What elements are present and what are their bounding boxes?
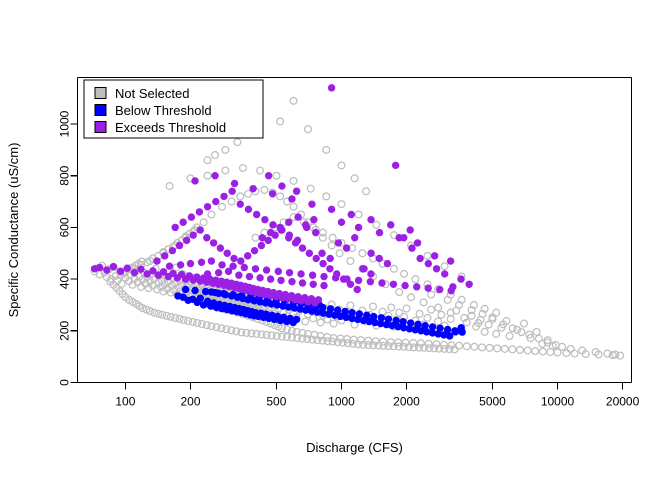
data-point xyxy=(246,273,253,280)
data-point xyxy=(385,315,392,322)
data-point xyxy=(265,172,272,179)
scatter-plot: 0200400600800100010020050010002000500010… xyxy=(0,0,672,480)
data-point xyxy=(263,266,270,273)
data-point xyxy=(215,269,222,276)
y-tick-label: 0 xyxy=(58,379,72,386)
data-point xyxy=(425,284,432,291)
data-point xyxy=(124,265,131,272)
data-point xyxy=(425,260,432,267)
data-point xyxy=(408,244,415,251)
data-point xyxy=(299,244,306,251)
data-point xyxy=(444,326,451,333)
x-tick-label: 10000 xyxy=(541,395,575,409)
data-point xyxy=(414,239,421,246)
data-point xyxy=(293,316,300,323)
chart-canvas: 0200400600800100010020050010002000500010… xyxy=(0,0,672,480)
data-point xyxy=(225,268,232,275)
data-point xyxy=(224,250,231,257)
data-point xyxy=(288,195,295,202)
data-point xyxy=(131,269,138,276)
data-point xyxy=(392,162,399,169)
data-point xyxy=(261,216,268,223)
data-point xyxy=(197,226,204,233)
data-point xyxy=(335,239,342,246)
data-point xyxy=(359,265,366,272)
data-point xyxy=(431,252,438,259)
legend-swatch-not-selected[interactable] xyxy=(95,88,106,99)
y-tick-label: 800 xyxy=(58,165,72,185)
data-point xyxy=(320,282,327,289)
data-point xyxy=(447,257,454,264)
data-point xyxy=(241,264,248,271)
data-point xyxy=(401,282,408,289)
data-point xyxy=(348,211,355,218)
data-point xyxy=(198,259,205,266)
data-point xyxy=(328,206,335,213)
y-tick-label: 400 xyxy=(58,269,72,289)
data-point xyxy=(252,265,259,272)
data-point xyxy=(458,328,465,335)
data-point xyxy=(117,268,124,275)
data-point xyxy=(356,310,363,317)
data-point xyxy=(306,250,313,257)
data-point xyxy=(390,281,397,288)
legend-swatch-below-threshold[interactable] xyxy=(95,105,106,116)
x-axis-title: Discharge (CFS) xyxy=(306,440,403,455)
data-point xyxy=(204,270,211,277)
data-point xyxy=(244,252,251,259)
data-point xyxy=(217,244,224,251)
data-point xyxy=(392,317,399,324)
data-point xyxy=(351,234,358,241)
data-point xyxy=(191,287,198,294)
data-point xyxy=(237,257,244,264)
data-point xyxy=(294,237,301,244)
data-point xyxy=(367,216,374,223)
data-point xyxy=(177,261,184,268)
data-point xyxy=(249,185,256,192)
data-point xyxy=(297,270,304,277)
data-point xyxy=(367,278,374,285)
data-point xyxy=(436,325,443,332)
data-point xyxy=(451,327,458,334)
data-point xyxy=(267,275,274,282)
data-point xyxy=(378,314,385,321)
data-point xyxy=(190,231,197,238)
data-point xyxy=(235,272,242,279)
data-point xyxy=(275,268,282,275)
data-point xyxy=(211,289,218,296)
data-point xyxy=(406,226,413,233)
data-point xyxy=(343,244,350,251)
data-point xyxy=(348,309,355,316)
data-point xyxy=(384,260,391,267)
data-point xyxy=(238,292,245,299)
data-point xyxy=(355,224,362,231)
data-point xyxy=(315,296,322,303)
data-point xyxy=(277,277,284,284)
data-point xyxy=(278,182,285,189)
data-point xyxy=(370,313,377,320)
data-point xyxy=(208,257,215,264)
y-tick-label: 1000 xyxy=(58,110,72,137)
data-point xyxy=(396,234,403,241)
data-point xyxy=(267,229,274,236)
data-point xyxy=(457,275,464,282)
legend-swatch-exceeds-threshold[interactable] xyxy=(95,122,106,133)
data-point xyxy=(288,278,295,285)
x-tick-label: 5000 xyxy=(479,395,506,409)
legend-label-exceeds-threshold: Exceeds Threshold xyxy=(115,120,226,135)
data-point xyxy=(441,270,448,277)
data-point xyxy=(354,286,361,293)
data-point xyxy=(110,263,117,270)
data-point xyxy=(197,295,204,302)
data-point xyxy=(367,250,374,257)
data-point xyxy=(286,269,293,276)
data-point xyxy=(319,260,326,267)
x-tick-label: 500 xyxy=(266,395,286,409)
data-point xyxy=(212,198,219,205)
data-point xyxy=(313,255,320,262)
data-point xyxy=(188,213,195,220)
data-point xyxy=(220,290,227,297)
data-point xyxy=(220,193,227,200)
data-point xyxy=(320,273,327,280)
data-point xyxy=(210,239,217,246)
data-point xyxy=(153,257,160,264)
legend: Not SelectedBelow ThresholdExceeds Thres… xyxy=(84,80,263,138)
data-point xyxy=(237,200,244,207)
data-point xyxy=(253,211,260,218)
data-point xyxy=(338,219,345,226)
data-point xyxy=(187,260,194,267)
y-tick-label: 200 xyxy=(58,320,72,340)
data-point xyxy=(202,288,209,295)
data-point xyxy=(276,224,283,231)
data-point xyxy=(137,266,144,273)
data-point xyxy=(326,265,333,272)
x-tick-label: 200 xyxy=(180,395,200,409)
data-point xyxy=(465,281,472,288)
data-point xyxy=(191,177,198,184)
x-tick-label: 2000 xyxy=(393,395,420,409)
data-point xyxy=(229,291,236,298)
data-point xyxy=(378,279,385,286)
data-point xyxy=(421,322,428,329)
data-point xyxy=(310,281,317,288)
x-tick-label: 20000 xyxy=(606,395,640,409)
data-point xyxy=(166,262,173,269)
data-point xyxy=(416,255,423,262)
data-point xyxy=(179,219,186,226)
data-point xyxy=(285,219,292,226)
data-point xyxy=(228,188,235,195)
data-point xyxy=(448,287,455,294)
data-point xyxy=(96,264,103,271)
data-point xyxy=(343,275,350,282)
legend-label-below-threshold: Below Threshold xyxy=(115,103,212,118)
legend-label-not-selected: Not Selected xyxy=(115,86,189,101)
data-point xyxy=(318,250,325,257)
data-point xyxy=(258,242,265,249)
data-point xyxy=(433,265,440,272)
data-point xyxy=(293,188,300,195)
data-point xyxy=(203,234,210,241)
data-point xyxy=(376,255,383,262)
data-point xyxy=(204,203,211,210)
data-point xyxy=(334,306,341,313)
data-point xyxy=(332,274,339,281)
x-tick-label: 100 xyxy=(115,395,135,409)
data-point xyxy=(211,172,218,179)
data-point xyxy=(269,190,276,197)
data-point xyxy=(312,229,319,236)
data-point xyxy=(299,279,306,286)
data-point xyxy=(387,221,394,228)
data-point xyxy=(376,229,383,236)
data-point xyxy=(161,252,168,259)
data-point xyxy=(309,272,316,279)
data-point xyxy=(286,231,293,238)
data-point xyxy=(182,286,189,293)
data-point xyxy=(328,84,335,91)
data-point xyxy=(196,208,203,215)
data-point xyxy=(172,224,179,231)
data-point xyxy=(269,221,276,228)
data-point xyxy=(310,216,317,223)
data-point xyxy=(176,242,183,249)
data-point xyxy=(218,261,225,268)
data-point xyxy=(308,200,315,207)
data-point xyxy=(436,286,443,293)
data-point xyxy=(169,247,176,254)
data-point xyxy=(231,180,238,187)
data-point xyxy=(327,305,334,312)
data-point xyxy=(363,312,370,319)
data-point xyxy=(103,266,110,273)
data-point xyxy=(294,213,301,220)
data-point xyxy=(230,255,237,262)
data-point xyxy=(251,247,258,254)
data-point xyxy=(413,283,420,290)
data-point xyxy=(355,277,362,284)
y-axis-title: Specific Conductance (uS/cm) xyxy=(6,143,21,318)
data-point xyxy=(407,319,414,326)
data-point xyxy=(256,274,263,281)
data-point xyxy=(414,321,421,328)
data-point xyxy=(245,206,252,213)
data-point xyxy=(399,318,406,325)
x-tick-label: 1000 xyxy=(328,395,355,409)
data-point xyxy=(327,255,334,262)
data-point xyxy=(341,308,348,315)
data-point xyxy=(367,270,374,277)
y-tick-label: 600 xyxy=(58,217,72,237)
data-point xyxy=(303,224,310,231)
data-point xyxy=(259,234,266,241)
data-point xyxy=(183,237,190,244)
data-point xyxy=(429,323,436,330)
